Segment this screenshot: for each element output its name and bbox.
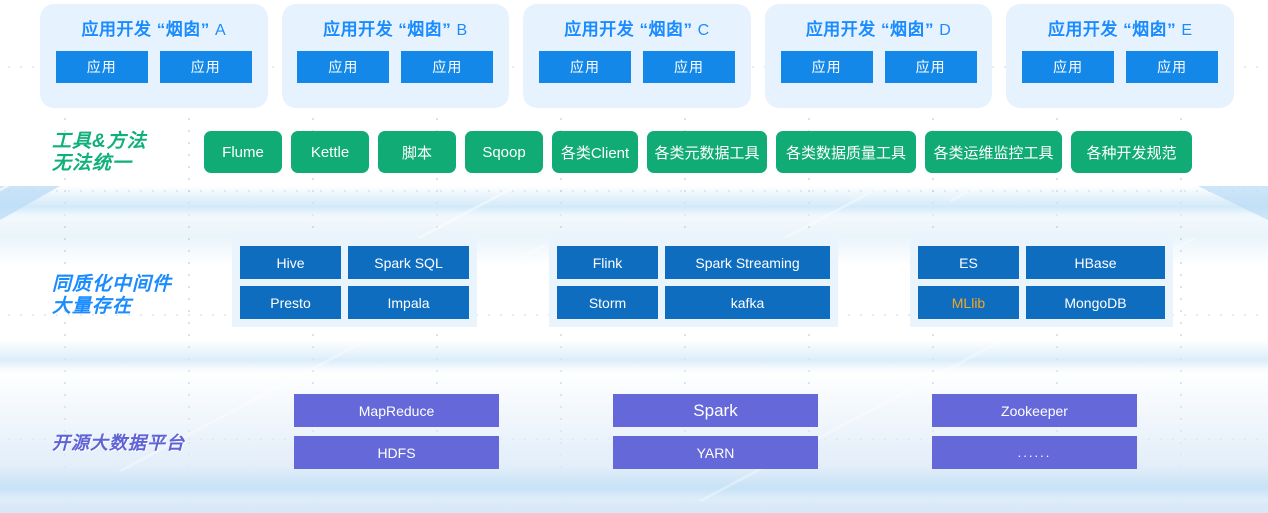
platform-row: MapReduceHDFSSparkYARNZookeeper...... [294, 394, 1137, 469]
platform-group: MapReduceHDFS [294, 394, 499, 469]
middleware-group: HiveSpark SQLPrestoImpala [232, 238, 477, 327]
middleware-box[interactable]: Storm [557, 286, 658, 319]
platform-box[interactable]: MapReduce [294, 394, 499, 427]
diagram-canvas: 应用开发 “烟囱” A应用应用应用开发 “烟囱” B应用应用应用开发 “烟囱” … [0, 0, 1268, 513]
application-card-title-suffix: A [215, 22, 226, 39]
tool-box[interactable]: Kettle [291, 131, 369, 173]
application-box-group: 应用应用 [297, 51, 493, 83]
background-band-3 [0, 466, 1268, 506]
application-box[interactable]: 应用 [539, 51, 631, 83]
application-card-title-cn: 应用开发 “烟囱” [1048, 20, 1181, 39]
platform-group: Zookeeper...... [932, 394, 1137, 469]
platform-group: SparkYARN [613, 394, 818, 469]
application-box[interactable]: 应用 [1126, 51, 1218, 83]
middleware-box[interactable]: Presto [240, 286, 341, 319]
tool-box[interactable]: Sqoop [465, 131, 543, 173]
tool-box[interactable]: 各类运维监控工具 [925, 131, 1062, 173]
application-card-title: 应用开发 “烟囱” C [564, 15, 710, 40]
application-card-title-suffix: E [1181, 22, 1192, 39]
application-card-title-suffix: D [939, 22, 951, 39]
application-card: 应用开发 “烟囱” B应用应用 [282, 4, 510, 108]
application-card-title-cn: 应用开发 “烟囱” [81, 20, 214, 39]
background-band-1 [0, 186, 1268, 220]
tool-box[interactable]: Flume [204, 131, 282, 173]
application-box[interactable]: 应用 [643, 51, 735, 83]
middleware-row-label: 同质化中间件 大量存在 [52, 274, 172, 319]
application-card: 应用开发 “烟囱” D应用应用 [765, 4, 993, 108]
application-card-title-cn: 应用开发 “烟囱” [806, 20, 939, 39]
platform-box[interactable]: Zookeeper [932, 394, 1137, 427]
middleware-group-line: Stormkafka [557, 286, 830, 319]
application-card: 应用开发 “烟囱” C应用应用 [523, 4, 751, 108]
platform-box[interactable]: Spark [613, 394, 818, 427]
application-box-group: 应用应用 [539, 51, 735, 83]
middleware-group-line: FlinkSpark Streaming [557, 246, 830, 279]
middleware-box[interactable]: Spark Streaming [665, 246, 830, 279]
tool-box[interactable]: 各类元数据工具 [647, 131, 767, 173]
middleware-box[interactable]: HBase [1026, 246, 1165, 279]
application-box[interactable]: 应用 [1022, 51, 1114, 83]
application-card-title: 应用开发 “烟囱” A [81, 15, 226, 40]
tool-box[interactable]: 脚本 [378, 131, 456, 173]
middleware-box[interactable]: Flink [557, 246, 658, 279]
application-card-title-cn: 应用开发 “烟囱” [564, 20, 697, 39]
tools-row-label: 工具&方法 无法统一 [52, 131, 147, 176]
middleware-box[interactable]: Hive [240, 246, 341, 279]
application-card: 应用开发 “烟囱” A应用应用 [40, 4, 268, 108]
middleware-group: FlinkSpark StreamingStormkafka [549, 238, 838, 327]
tool-box[interactable]: 各种开发规范 [1071, 131, 1192, 173]
platform-box[interactable]: HDFS [294, 436, 499, 469]
application-box[interactable]: 应用 [401, 51, 493, 83]
application-box[interactable]: 应用 [297, 51, 389, 83]
background-triangle-left [0, 186, 60, 220]
middleware-box[interactable]: Impala [348, 286, 469, 319]
tools-row: FlumeKettle脚本Sqoop各类Client各类元数据工具各类数据质量工… [204, 131, 1192, 173]
middleware-box[interactable]: ES [918, 246, 1019, 279]
middleware-group: ESHBaseMLlibMongoDB [910, 238, 1173, 327]
application-box[interactable]: 应用 [885, 51, 977, 83]
application-card-title-suffix: C [698, 22, 710, 39]
middleware-group-line: ESHBase [918, 246, 1165, 279]
application-card-title: 应用开发 “烟囱” E [1048, 15, 1193, 40]
platform-box[interactable]: YARN [613, 436, 818, 469]
middleware-group-line: MLlibMongoDB [918, 286, 1165, 319]
application-box-group: 应用应用 [1022, 51, 1218, 83]
platform-box[interactable]: ...... [932, 436, 1137, 469]
application-box[interactable]: 应用 [781, 51, 873, 83]
tool-box[interactable]: 各类数据质量工具 [776, 131, 916, 173]
middleware-box[interactable]: MongoDB [1026, 286, 1165, 319]
middleware-box[interactable]: Spark SQL [348, 246, 469, 279]
middleware-group-line: HiveSpark SQL [240, 246, 469, 279]
application-card-title: 应用开发 “烟囱” D [806, 15, 952, 40]
platform-row-label: 开源大数据平台 [52, 433, 185, 454]
application-box[interactable]: 应用 [56, 51, 148, 83]
application-card-title-cn: 应用开发 “烟囱” [323, 20, 456, 39]
background-triangle-right [1198, 186, 1268, 220]
application-box-group: 应用应用 [56, 51, 252, 83]
application-card-title: 应用开发 “烟囱” B [323, 15, 468, 40]
middleware-row: HiveSpark SQLPrestoImpalaFlinkSpark Stre… [232, 238, 1173, 327]
application-box-group: 应用应用 [781, 51, 977, 83]
middleware-box[interactable]: MLlib [918, 286, 1019, 319]
background-band-2 [0, 340, 1268, 374]
application-cards-row: 应用开发 “烟囱” A应用应用应用开发 “烟囱” B应用应用应用开发 “烟囱” … [40, 4, 1234, 108]
application-box[interactable]: 应用 [160, 51, 252, 83]
middleware-group-line: PrestoImpala [240, 286, 469, 319]
application-card-title-suffix: B [457, 22, 468, 39]
middleware-box[interactable]: kafka [665, 286, 830, 319]
application-card: 应用开发 “烟囱” E应用应用 [1006, 4, 1234, 108]
tool-box[interactable]: 各类Client [552, 131, 638, 173]
